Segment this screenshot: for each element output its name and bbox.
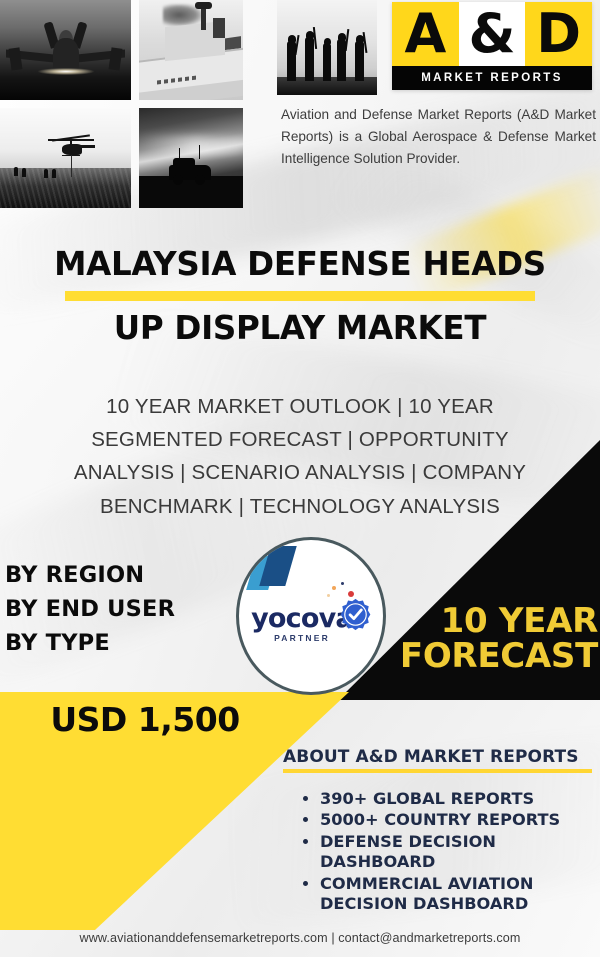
about-bullet-list: 390+ GLOBAL REPORTS 5000+ COUNTRY REPORT… [300, 789, 600, 915]
title-line-1: MALAYSIA DEFENSE HEADS [0, 246, 600, 282]
company-intro-paragraph: Aviation and Defense Market Reports (A&D… [281, 104, 596, 170]
about-heading: ABOUT A&D MARKET REPORTS [283, 747, 579, 767]
about-heading-underline [283, 769, 592, 773]
photo-fighter-jet [0, 0, 131, 100]
logo-letter-ampersand: & [468, 7, 515, 61]
about-bullet-item: 5000+ COUNTRY REPORTS [320, 810, 600, 830]
about-bullet-item: 390+ GLOBAL REPORTS [320, 789, 600, 809]
photo-soldiers [277, 0, 377, 95]
segmentation-item-region: BY REGION [5, 558, 175, 592]
segmentation-item-end-user: BY END USER [5, 592, 175, 626]
logo-cell-a: A [392, 2, 459, 66]
logo-subtitle-text: MARKET REPORTS [421, 72, 563, 84]
price-value: USD 1,500 [0, 700, 290, 739]
footer-contact: www.aviationanddefensemarketreports.com … [0, 931, 600, 945]
photo-warship [139, 0, 243, 100]
about-bullet-item: DEFENSE DECISION DASHBOARD [320, 832, 600, 873]
segmentation-item-type: BY TYPE [5, 626, 175, 660]
logo-subtitle-bar: MARKET REPORTS [392, 66, 592, 90]
report-poster: A & D MARKET REPORTS Aviation and Defens… [0, 0, 600, 957]
forecast-banner: 10 YEAR FORECAST [326, 604, 598, 675]
photo-armored-vehicle [139, 108, 243, 208]
logo-cell-d: D [525, 2, 592, 66]
ad-market-reports-logo: A & D MARKET REPORTS [392, 2, 592, 90]
segmentation-list: BY REGION BY END USER BY TYPE [5, 558, 175, 661]
page-title: MALAYSIA DEFENSE HEADS UP DISPLAY MARKET [0, 246, 600, 347]
photo-helicopter [0, 108, 131, 208]
logo-letter-a: A [404, 7, 446, 61]
title-line-2: UP DISPLAY MARKET [0, 310, 600, 346]
about-bullet-item: COMMERCIAL AVIATION DECISION DASHBOARD [320, 874, 600, 915]
forecast-line-2: FORECAST [326, 639, 598, 674]
yocova-mark-dark [259, 546, 296, 586]
forecast-line-1: 10 YEAR [326, 604, 598, 639]
report-scope-subtitle: 10 YEAR MARKET OUTLOOK | 10 YEAR SEGMENT… [55, 390, 545, 523]
logo-letter-d: D [536, 7, 581, 61]
title-underline-rule [65, 291, 535, 301]
logo-cell-ampersand: & [459, 2, 526, 66]
